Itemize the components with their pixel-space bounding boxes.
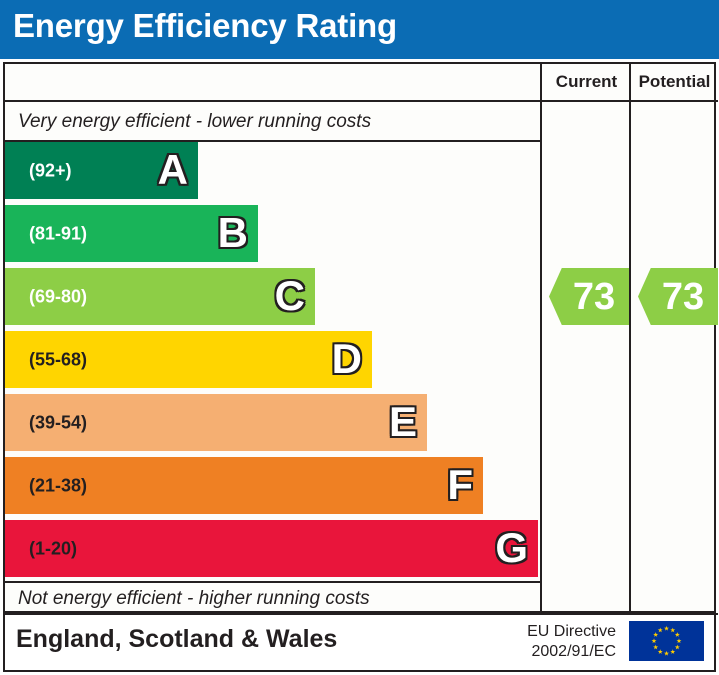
eu-directive-line1: EU Directive: [527, 622, 616, 642]
band-letter-a: A: [158, 149, 188, 191]
page-title: Energy Efficiency Rating: [13, 7, 397, 45]
band-letter-d: D: [332, 338, 362, 380]
footer: England, Scotland & Wales EU Directive 2…: [3, 613, 716, 672]
column-divider-current: [540, 64, 542, 611]
band-a: (92+)A: [5, 142, 198, 199]
band-range-a: (92+): [29, 160, 72, 181]
band-range-g: (1-20): [29, 538, 77, 559]
column-divider-potential: [629, 64, 631, 611]
band-c: (69-80)C: [5, 268, 315, 325]
caption-efficient: Very energy efficient - lower running co…: [18, 111, 371, 133]
band-range-c: (69-80): [29, 286, 87, 307]
band-letter-b: B: [218, 212, 248, 254]
band-g: (1-20)G: [5, 520, 538, 577]
band-letter-g: G: [495, 527, 528, 569]
band-letter-c: C: [275, 275, 305, 317]
band-letter-e: E: [389, 401, 417, 443]
band-range-f: (21-38): [29, 475, 87, 496]
title-banner: Energy Efficiency Rating: [0, 0, 719, 59]
band-b: (81-91)B: [5, 205, 258, 262]
current-rating-arrow: 73: [549, 268, 629, 325]
header-rule: [5, 100, 718, 102]
footer-region-label: England, Scotland & Wales: [16, 625, 337, 654]
rating-chart: Current Potential Very energy efficient …: [3, 62, 716, 613]
band-d: (55-68)D: [5, 331, 372, 388]
eu-directive-line2: 2002/91/EC: [527, 642, 616, 662]
band-range-b: (81-91): [29, 223, 87, 244]
band-f: (21-38)F: [5, 457, 483, 514]
potential-rating-value: 73: [652, 278, 704, 316]
current-rating-value: 73: [563, 278, 615, 316]
band-range-e: (39-54): [29, 412, 87, 433]
caption-not-efficient: Not energy efficient - higher running co…: [18, 588, 370, 610]
band-letter-f: F: [447, 464, 473, 506]
footer-rule: [5, 613, 718, 615]
band-list: (92+)A(81-91)B(69-80)C(55-68)D(39-54)E(2…: [5, 142, 538, 580]
column-header-current: Current: [542, 72, 631, 92]
caption-rule-bottom: [5, 581, 540, 583]
band-range-d: (55-68): [29, 349, 87, 370]
column-header-potential: Potential: [631, 72, 718, 92]
eu-flag-icon: [629, 621, 704, 661]
epc-certificate: Energy Efficiency Rating Current Potenti…: [0, 0, 719, 675]
potential-rating-arrow: 73: [638, 268, 718, 325]
eu-directive-label: EU Directive 2002/91/EC: [527, 622, 616, 663]
band-e: (39-54)E: [5, 394, 427, 451]
